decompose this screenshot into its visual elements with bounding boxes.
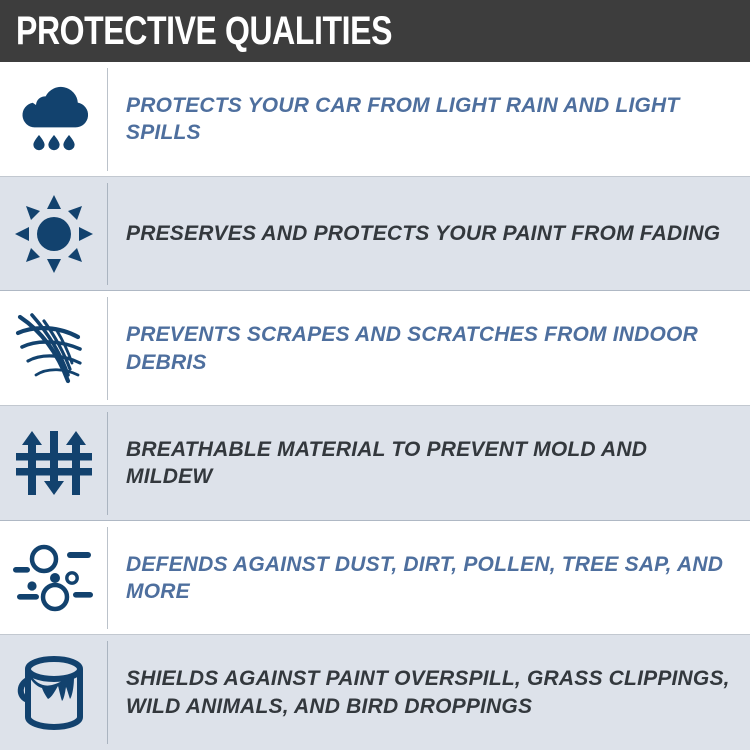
text-cell: BREATHABLE MATERIAL TO PREVENT MOLD AND … xyxy=(108,406,750,521)
icon-cell xyxy=(0,635,108,750)
list-item: PRESERVES AND PROTECTS YOUR PAINT FROM F… xyxy=(0,177,750,292)
dust-particles-icon xyxy=(11,542,97,614)
list-item: BREATHABLE MATERIAL TO PREVENT MOLD AND … xyxy=(0,406,750,521)
text-cell: DEFENDS AGAINST DUST, DIRT, POLLEN, TREE… xyxy=(108,521,750,636)
icon-cell xyxy=(0,177,108,292)
list-item: DEFENDS AGAINST DUST, DIRT, POLLEN, TREE… xyxy=(0,521,750,636)
list-item-label: DEFENDS AGAINST DUST, DIRT, POLLEN, TREE… xyxy=(126,551,732,606)
paint-can-icon xyxy=(14,653,94,733)
list-item: PREVENTS SCRAPES AND SCRATCHES FROM INDO… xyxy=(0,291,750,406)
list-item-label: PRESERVES AND PROTECTS YOUR PAINT FROM F… xyxy=(126,220,720,247)
page-title: PROTECTIVE QUALITIES xyxy=(16,11,392,51)
text-cell: PREVENTS SCRAPES AND SCRATCHES FROM INDO… xyxy=(108,291,750,406)
sun-icon xyxy=(15,195,93,273)
list-item-label: SHIELDS AGAINST PAINT OVERSPILL, GRASS C… xyxy=(126,665,732,720)
header-bar: PROTECTIVE QUALITIES xyxy=(0,0,750,62)
list-item-label: PROTECTS YOUR CAR FROM LIGHT RAIN AND LI… xyxy=(126,92,732,147)
icon-cell xyxy=(0,291,108,406)
protective-qualities-infographic: PROTECTIVE QUALITIES PROTECTS YOUR CAR F… xyxy=(0,0,750,750)
rain-cloud-icon xyxy=(16,81,92,157)
list-item-label: BREATHABLE MATERIAL TO PREVENT MOLD AND … xyxy=(126,436,732,491)
icon-cell xyxy=(0,62,108,177)
breathable-arrows-icon xyxy=(14,423,94,503)
list-item: PROTECTS YOUR CAR FROM LIGHT RAIN AND LI… xyxy=(0,62,750,177)
list-item-label: PREVENTS SCRAPES AND SCRATCHES FROM INDO… xyxy=(126,321,732,376)
icon-cell xyxy=(0,406,108,521)
feature-list: PROTECTS YOUR CAR FROM LIGHT RAIN AND LI… xyxy=(0,62,750,750)
text-cell: PRESERVES AND PROTECTS YOUR PAINT FROM F… xyxy=(108,177,750,292)
scratch-mesh-icon xyxy=(12,307,96,391)
text-cell: SHIELDS AGAINST PAINT OVERSPILL, GRASS C… xyxy=(108,635,750,750)
icon-cell xyxy=(0,521,108,636)
text-cell: PROTECTS YOUR CAR FROM LIGHT RAIN AND LI… xyxy=(108,62,750,177)
list-item: SHIELDS AGAINST PAINT OVERSPILL, GRASS C… xyxy=(0,635,750,750)
